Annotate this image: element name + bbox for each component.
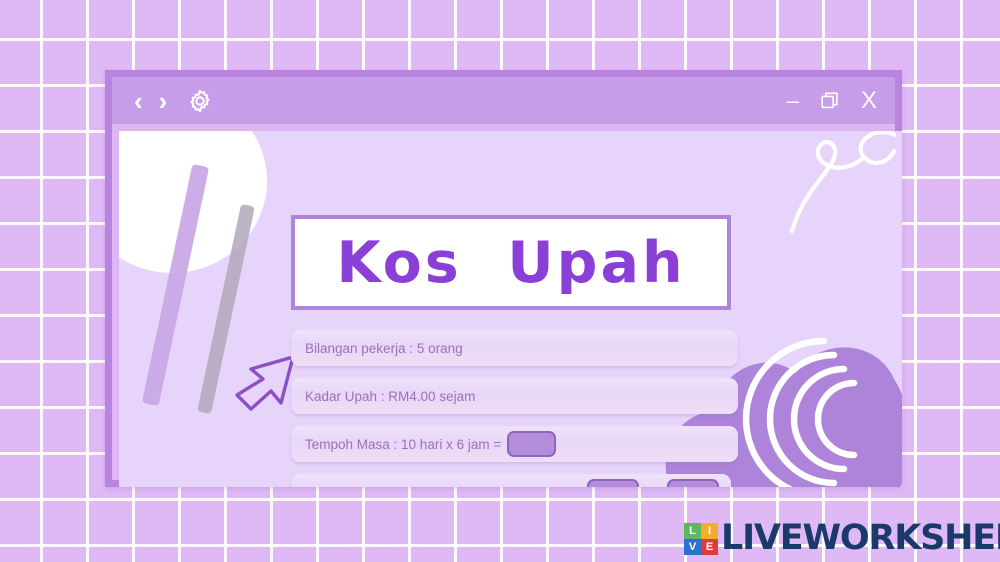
app-window: ‹ › – X [105, 70, 902, 487]
logo-letter-v: V [684, 539, 701, 555]
logo-letter-i: I [701, 523, 718, 539]
restore-icon[interactable] [819, 90, 841, 112]
window-titlebar: ‹ › – X [112, 77, 895, 124]
row-label: Tempoh Masa : 10 hari x 6 jam = [305, 437, 501, 452]
answer-input-tempoh-masa[interactable] [507, 431, 556, 457]
row-label: Kadar Upah : RM4.00 sejam [305, 389, 475, 404]
logo-letter-e: E [701, 539, 718, 555]
window-controls: – X [787, 77, 877, 124]
worksheet-title-box: Kos Upah [291, 215, 731, 310]
page-title: Kos Upah [336, 230, 685, 296]
equals-sign: = [649, 485, 657, 488]
answer-input-jam[interactable] [587, 479, 639, 487]
row-label: Pengiraan Kos Upah : 5 orang x 4.00 seja… [305, 485, 581, 488]
arrow-cursor-icon [229, 353, 299, 415]
worksheet-row: Tempoh Masa : 10 hari x 6 jam = [291, 426, 738, 462]
close-button[interactable]: X [861, 89, 877, 113]
worksheet-panel: Kos Upah Bilangan pekerja : 5 orang Kada… [119, 131, 902, 487]
logo-letter-l: L [684, 523, 701, 539]
squiggle-line-icon [766, 131, 896, 251]
answer-input-kos-upah[interactable] [667, 479, 719, 487]
minimize-button[interactable]: – [787, 90, 799, 112]
gear-icon[interactable] [187, 88, 213, 114]
liveworksheets-logo[interactable]: L I V E LIVEWORKSHEETS [684, 521, 1000, 556]
worksheet-row: Pengiraan Kos Upah : 5 orang x 4.00 seja… [291, 474, 731, 487]
logo-wordmark: LIVEWORKSHEETS [721, 521, 1000, 556]
worksheet-row: Bilangan pekerja : 5 orang [291, 330, 738, 366]
logo-letter-grid: L I V E [684, 523, 718, 555]
row-label: Bilangan pekerja : 5 orang [305, 341, 463, 356]
forward-arrow-icon[interactable]: › [159, 88, 168, 114]
back-arrow-icon[interactable]: ‹ [134, 88, 143, 114]
worksheet-row: Kadar Upah : RM4.00 sejam [291, 378, 738, 414]
